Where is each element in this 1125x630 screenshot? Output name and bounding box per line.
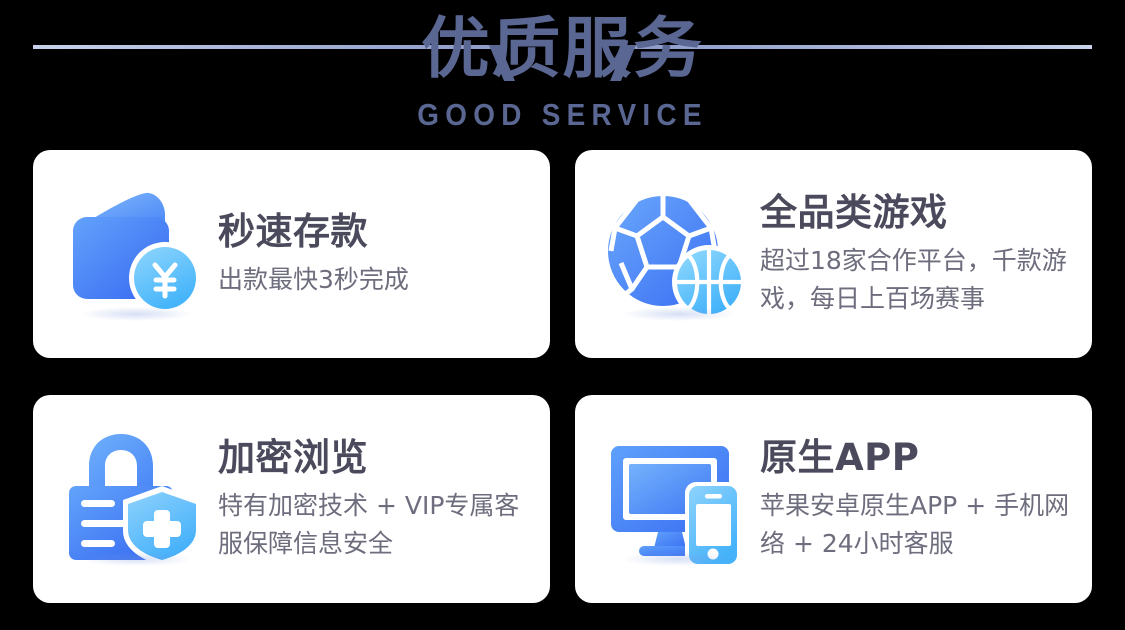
- card-text-block: 原生APP 苹果安卓原生APP + 手机网络 + 24小时客服: [756, 435, 1072, 563]
- card-title: 加密浏览: [218, 435, 530, 481]
- card-title: 原生APP: [760, 435, 1072, 481]
- page-header: 优质服务 GOOD SERVICE: [0, 0, 1125, 148]
- card-description: 超过18家合作平台，千款游戏，每日上百场赛事: [760, 242, 1072, 318]
- soccer-basketball-icon: [601, 179, 756, 329]
- feature-card-native-app[interactable]: 原生APP 苹果安卓原生APP + 手机网络 + 24小时客服: [575, 395, 1092, 603]
- card-text-block: 秒速存款 出款最快3秒完成: [214, 209, 530, 299]
- card-description: 特有加密技术 + VIP专属客服保障信息安全: [218, 487, 530, 563]
- card-description: 出款最快3秒完成: [218, 261, 530, 299]
- feature-card-games[interactable]: 全品类游戏 超过18家合作平台，千款游戏，每日上百场赛事: [575, 150, 1092, 358]
- lock-shield-icon: [59, 424, 214, 574]
- card-text-block: 全品类游戏 超过18家合作平台，千款游戏，每日上百场赛事: [756, 190, 1072, 318]
- feature-card-encryption[interactable]: 加密浏览 特有加密技术 + VIP专属客服保障信息安全: [33, 395, 550, 603]
- page-title: 优质服务: [0, 6, 1125, 92]
- monitor-phone-icon: [601, 424, 756, 574]
- page-subtitle: GOOD SERVICE: [56, 96, 1069, 134]
- card-title: 全品类游戏: [760, 190, 1072, 236]
- card-description: 苹果安卓原生APP + 手机网络 + 24小时客服: [760, 487, 1072, 563]
- feature-card-deposit[interactable]: 秒速存款 出款最快3秒完成: [33, 150, 550, 358]
- card-text-block: 加密浏览 特有加密技术 + VIP专属客服保障信息安全: [214, 435, 530, 563]
- feature-card-grid: 秒速存款 出款最快3秒完成: [33, 150, 1092, 603]
- card-title: 秒速存款: [218, 209, 530, 255]
- wallet-yen-icon: [59, 179, 214, 329]
